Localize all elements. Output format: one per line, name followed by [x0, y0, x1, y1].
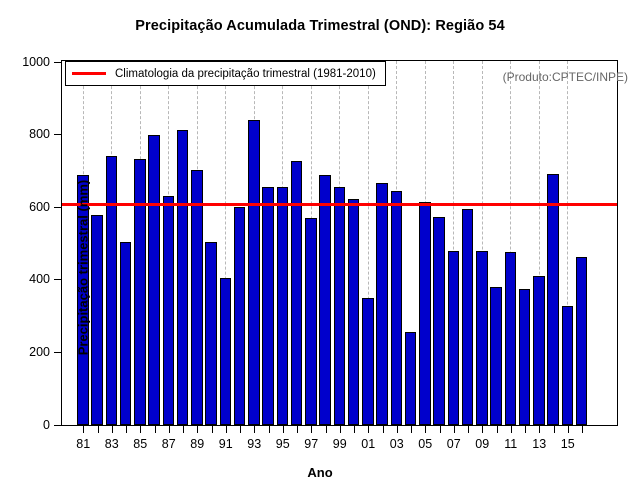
x-tick-mark [254, 426, 255, 433]
bar-86 [148, 135, 160, 425]
bar-02 [376, 183, 388, 425]
y-tick-label: 400 [29, 272, 50, 286]
x-tick-mark [354, 426, 355, 433]
y-tick-mark [54, 279, 61, 280]
bar-99 [334, 187, 346, 425]
x-tick-label: 81 [76, 437, 90, 451]
x-tick-label: 83 [105, 437, 119, 451]
x-tick-label: 93 [247, 437, 261, 451]
x-tick-label: 15 [561, 437, 575, 451]
x-tick-mark [112, 426, 113, 433]
bar-91 [220, 278, 232, 425]
y-tick-label: 200 [29, 345, 50, 359]
legend-line-swatch [72, 72, 106, 75]
x-tick-mark [126, 426, 127, 433]
x-tick-mark [454, 426, 455, 433]
x-tick-mark [468, 426, 469, 433]
x-tick-label: 01 [361, 437, 375, 451]
x-tick-mark [197, 426, 198, 433]
bar-15 [562, 306, 574, 425]
x-tick-label: 07 [447, 437, 461, 451]
y-axis-label: Precipitação trimestral (mm) [76, 118, 91, 418]
x-tick-mark [340, 426, 341, 433]
chart-title: Precipitação Acumulada Trimestral (OND):… [0, 18, 640, 34]
x-tick-mark [582, 426, 583, 433]
x-tick-mark [140, 426, 141, 433]
bar-04 [405, 332, 417, 425]
x-tick-mark [497, 426, 498, 433]
x-tick-label: 09 [475, 437, 489, 451]
x-tick-mark [568, 426, 569, 433]
product-credit: (Produto:CPTEC/INPE) [503, 70, 628, 84]
bar-13 [533, 276, 545, 425]
bar-00 [348, 199, 360, 425]
x-tick-mark [397, 426, 398, 433]
x-tick-mark [425, 426, 426, 433]
x-tick-mark [440, 426, 441, 433]
plot-area: Precipitação trimestral (mm) [61, 60, 618, 426]
bar-03 [391, 191, 403, 425]
x-tick-mark [539, 426, 540, 433]
bar-82 [91, 215, 103, 425]
x-tick-mark [311, 426, 312, 433]
x-tick-mark [554, 426, 555, 433]
y-tick-mark [54, 425, 61, 426]
legend-label: Climatologia da precipitação trimestral … [115, 68, 376, 80]
bar-14 [547, 174, 559, 425]
bar-06 [433, 217, 445, 425]
bar-87 [163, 196, 175, 425]
x-axis-label: Ano [0, 465, 640, 480]
x-tick-mark [511, 426, 512, 433]
x-tick-mark [283, 426, 284, 433]
bar-undefined [576, 257, 588, 425]
x-tick-mark [411, 426, 412, 433]
bar-95 [277, 187, 289, 425]
y-tick-mark [54, 207, 61, 208]
chart-legend: Climatologia da precipitação trimestral … [65, 61, 386, 86]
x-tick-mark [326, 426, 327, 433]
bar-94 [262, 187, 274, 425]
x-tick-label: 11 [504, 437, 517, 451]
bar-84 [120, 242, 132, 425]
bar-09 [476, 251, 488, 425]
x-tick-mark [240, 426, 241, 433]
x-tick-mark [269, 426, 270, 433]
plot-inner [62, 61, 617, 425]
x-tick-label: 05 [418, 437, 432, 451]
x-tick-mark [383, 426, 384, 433]
x-tick-label: 97 [304, 437, 318, 451]
y-tick-label: 800 [29, 127, 50, 141]
x-tick-mark [482, 426, 483, 433]
chart-root: Precipitação Acumulada Trimestral (OND):… [0, 0, 640, 500]
bar-88 [177, 130, 189, 425]
x-tick-label: 85 [133, 437, 147, 451]
bar-10 [490, 287, 502, 425]
bar-89 [191, 170, 203, 425]
bar-83 [106, 156, 118, 425]
x-tick-mark [98, 426, 99, 433]
y-tick-mark [54, 352, 61, 353]
x-tick-mark [183, 426, 184, 433]
bar-12 [519, 289, 531, 425]
x-tick-mark [368, 426, 369, 433]
climatology-line [62, 203, 617, 206]
x-tick-label: 13 [532, 437, 546, 451]
x-tick-label: 03 [390, 437, 404, 451]
x-tick-label: 99 [333, 437, 347, 451]
x-tick-label: 91 [219, 437, 233, 451]
y-tick-label: 0 [43, 418, 50, 432]
bar-07 [448, 251, 460, 425]
bar-08 [462, 209, 474, 425]
y-tick-label: 600 [29, 200, 50, 214]
y-tick-mark [54, 62, 61, 63]
bar-01 [362, 298, 374, 425]
bar-85 [134, 159, 146, 425]
x-tick-label: 87 [162, 437, 176, 451]
bar-92 [234, 207, 246, 425]
x-tick-mark [155, 426, 156, 433]
x-tick-mark [226, 426, 227, 433]
x-tick-label: 95 [276, 437, 290, 451]
x-tick-label: 89 [190, 437, 204, 451]
bar-11 [505, 252, 517, 425]
bar-96 [291, 161, 303, 425]
y-tick-label: 1000 [22, 55, 50, 69]
x-tick-mark [297, 426, 298, 433]
x-tick-mark [169, 426, 170, 433]
y-tick-mark [54, 134, 61, 135]
bar-97 [305, 218, 317, 425]
bar-93 [248, 120, 260, 425]
x-tick-mark [525, 426, 526, 433]
bar-05 [419, 202, 431, 425]
bar-90 [205, 242, 217, 425]
x-tick-mark [83, 426, 84, 433]
x-tick-mark [212, 426, 213, 433]
bar-98 [319, 175, 331, 425]
